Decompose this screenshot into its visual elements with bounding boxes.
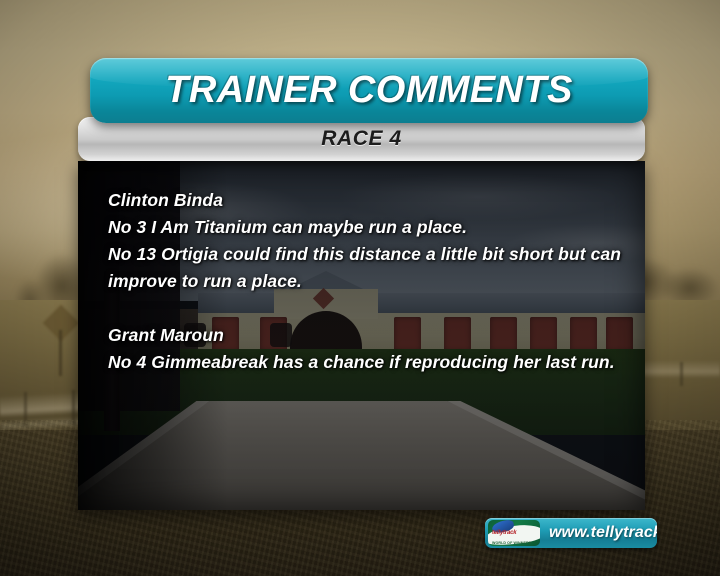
- trainer-name: Grant Maroun: [108, 322, 628, 349]
- trainer-comment-line: improve to run a place.: [108, 268, 628, 295]
- trainer-comments-card: Clinton Binda No 3 I Am Titanium can may…: [78, 58, 648, 510]
- trainer-name: Clinton Binda: [108, 187, 628, 214]
- trainer-comment-line: No 13 Ortigia could find this distance a…: [108, 241, 628, 268]
- comments-panel: Clinton Binda No 3 I Am Titanium can may…: [78, 161, 645, 510]
- race-subtitle-text: RACE 4: [321, 127, 402, 151]
- page-title: TRAINER COMMENTS: [165, 69, 573, 112]
- logo-wordmark: tellytrack: [492, 530, 536, 536]
- trainer-comment-line: No 3 I Am Titanium can maybe run a place…: [108, 214, 628, 241]
- logo-tagline: WORLD OF WINNERS: [492, 541, 538, 545]
- race-subtitle-bar: RACE 4: [78, 117, 645, 161]
- tellytrack-watermark[interactable]: tellytrack WORLD OF WINNERS www.tellytra…: [485, 518, 657, 548]
- trainer-comments-text: Clinton Binda No 3 I Am Titanium can may…: [108, 187, 628, 376]
- tellytrack-logo-icon: tellytrack WORLD OF WINNERS: [488, 520, 540, 546]
- paragraph-spacer: [108, 295, 628, 322]
- trainer-comment-line: No 4 Gimmeabreak has a chance if reprodu…: [108, 349, 628, 376]
- tellytrack-url-text: www.tellytrack.com: [549, 524, 657, 542]
- title-bar: TRAINER COMMENTS: [90, 58, 648, 123]
